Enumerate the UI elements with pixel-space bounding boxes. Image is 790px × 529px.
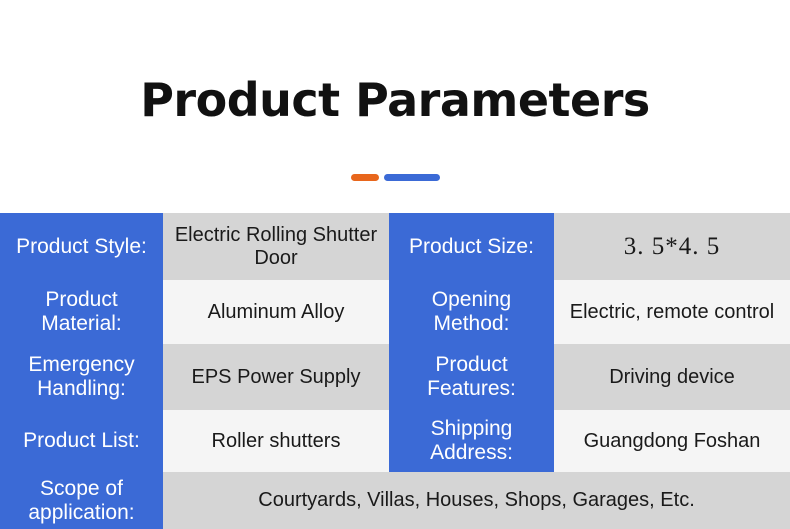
divider-bar-orange-icon <box>351 174 379 181</box>
page-title: Product Parameters <box>0 70 790 130</box>
spec-value-product-material: Aluminum Alloy <box>163 280 389 344</box>
divider-bar-blue-icon <box>384 174 440 181</box>
table-row: Scope of application: Courtyards, Villas… <box>0 472 790 529</box>
spec-value-product-size: 3. 5*4. 5 <box>554 213 790 280</box>
spec-label-product-list: Product List: <box>0 410 163 472</box>
spec-label-product-style: Product Style: <box>0 213 163 280</box>
spec-value-product-style: Electric Rolling Shutter Door <box>163 213 389 280</box>
product-parameters-page: Product Parameters Product Style: Electr… <box>0 0 790 529</box>
spec-label-shipping-address: Shipping Address: <box>389 410 554 472</box>
spec-label-opening-method: Opening Method: <box>389 280 554 344</box>
spec-label-product-material: Product Material: <box>0 280 163 344</box>
table-row: Emergency Handling: EPS Power Supply Pro… <box>0 344 790 410</box>
spec-value-product-features: Driving device <box>554 344 790 410</box>
spec-label-product-features: Product Features: <box>389 344 554 410</box>
page-header: Product Parameters <box>0 0 790 213</box>
spec-value-product-list: Roller shutters <box>163 410 389 472</box>
spec-label-emergency-handling: Emergency Handling: <box>0 344 163 410</box>
spec-value-emergency-handling: EPS Power Supply <box>163 344 389 410</box>
spec-value-opening-method: Electric, remote control <box>554 280 790 344</box>
table-row: Product List: Roller shutters Shipping A… <box>0 410 790 472</box>
spec-label-scope-of-application: Scope of application: <box>0 472 163 529</box>
table-row: Product Material: Aluminum Alloy Opening… <box>0 280 790 344</box>
spec-label-product-size: Product Size: <box>389 213 554 280</box>
title-divider <box>0 174 790 181</box>
spec-value-scope-of-application: Courtyards, Villas, Houses, Shops, Garag… <box>163 472 790 529</box>
spec-value-shipping-address: Guangdong Foshan <box>554 410 790 472</box>
table-row: Product Style: Electric Rolling Shutter … <box>0 213 790 280</box>
specification-table: Product Style: Electric Rolling Shutter … <box>0 213 790 529</box>
